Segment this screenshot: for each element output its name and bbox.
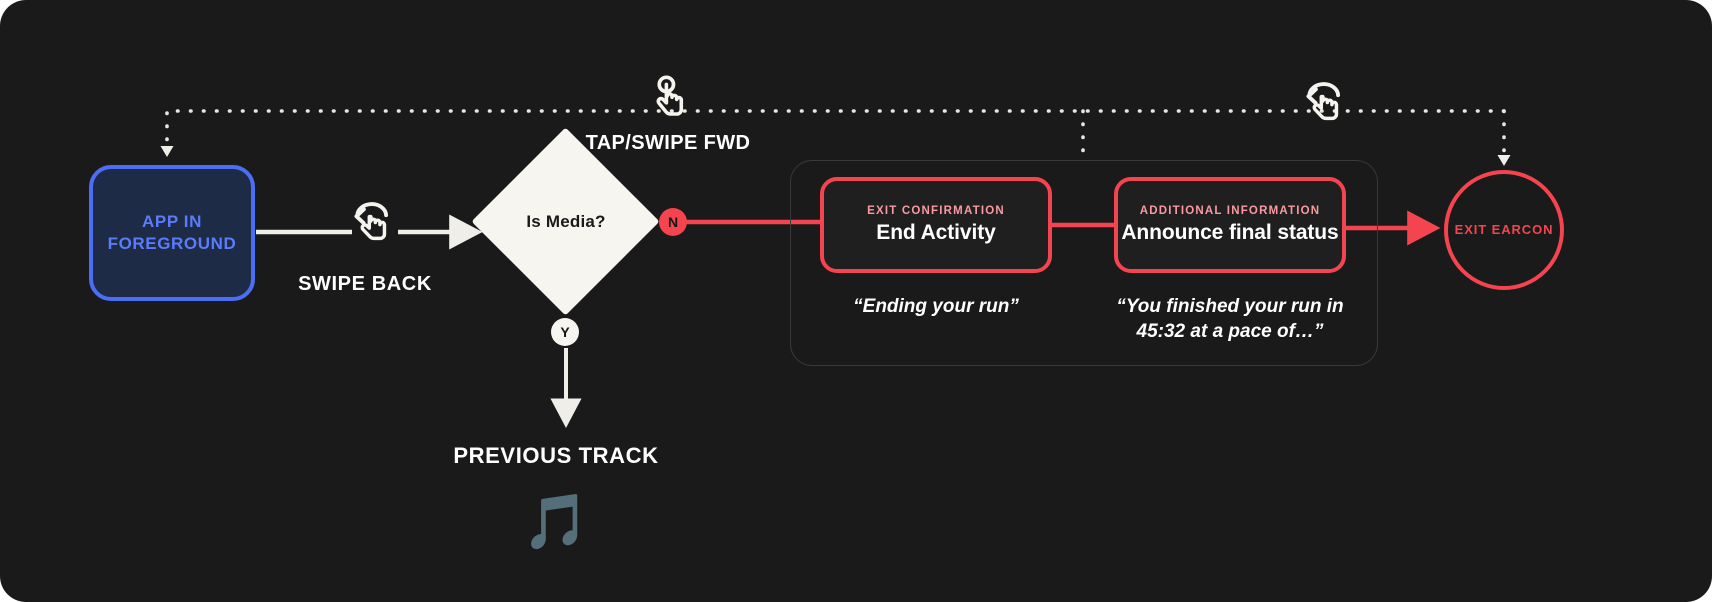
step-box-exit-confirmation[interactable]: EXIT CONFIRMATION End Activity — [820, 177, 1052, 273]
caption-additional-information: “You finished your run in 45:32 at a pac… — [1104, 295, 1356, 344]
tap-gesture-icon — [642, 72, 694, 131]
step-title-announce-final-status: Announce final status — [1121, 221, 1338, 246]
branch-badge-yes: Y — [551, 318, 579, 346]
step-kicker-exit-confirmation: EXIT CONFIRMATION — [867, 205, 1005, 217]
label-previous-track: PREVIOUS TRACK — [406, 443, 706, 469]
node-exit-earcon[interactable]: EXIT EARCON — [1444, 170, 1564, 290]
wire-earcon-arrowhead — [1498, 155, 1511, 166]
node-app-in-foreground[interactable]: APP IN FOREGROUND — [89, 165, 255, 301]
node-exit-earcon-label: EXIT EARCON — [1455, 221, 1554, 239]
swipe-back-gesture-icon — [346, 198, 398, 255]
music-notes-icon: 🎵 — [506, 495, 606, 549]
label-tap-swipe-fwd: TAP/SWIPE FWD — [573, 130, 763, 156]
wire-feedback-loop-arrowhead — [161, 146, 174, 157]
step-title-end-activity: End Activity — [876, 221, 995, 246]
node-app-in-foreground-label: APP IN FOREGROUND — [93, 211, 251, 256]
caption-exit-confirmation: “Ending your run” — [820, 295, 1052, 320]
swipe-forward-gesture-icon — [1298, 78, 1350, 135]
label-swipe-back: SWIPE BACK — [240, 273, 490, 296]
step-kicker-additional-information: ADDITIONAL INFORMATION — [1140, 205, 1321, 217]
step-box-additional-information[interactable]: ADDITIONAL INFORMATION Announce final st… — [1114, 177, 1346, 273]
diagram-canvas: APP IN FOREGROUND SWIPE BACK Is Media? N… — [0, 0, 1712, 602]
branch-badge-no: N — [659, 208, 687, 236]
